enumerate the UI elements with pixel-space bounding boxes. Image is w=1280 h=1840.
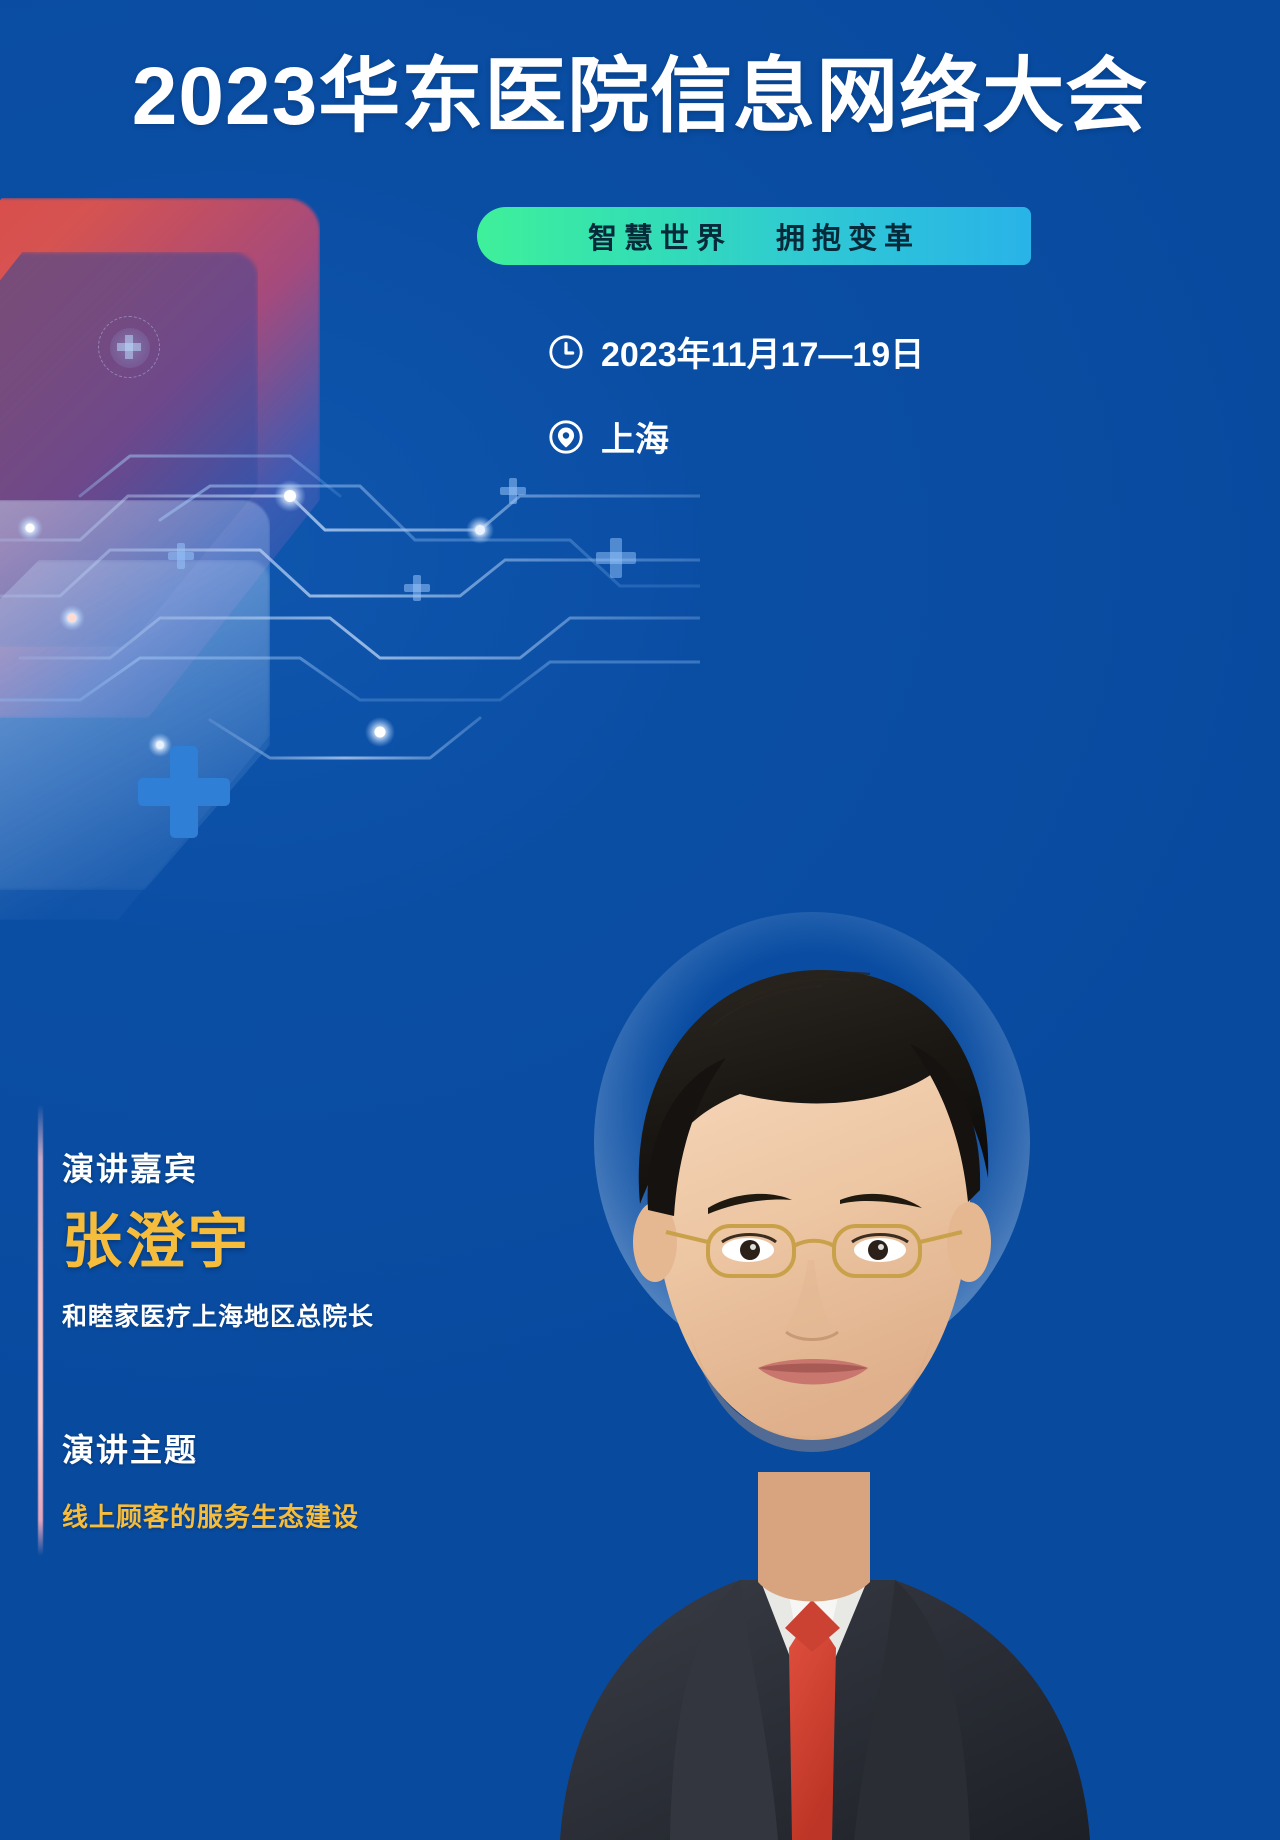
map-pin-icon: [547, 418, 585, 456]
warm-hexagon-shape: [0, 198, 320, 718]
tagline-banner: 智慧世界 拥抱变革: [477, 207, 1031, 265]
pale-hexagon-inner-shape: [0, 560, 270, 890]
plus-decoration-icon: [596, 538, 636, 578]
plus-decoration-icon: [500, 478, 526, 504]
event-location-text: 上海: [601, 412, 669, 461]
speaker-portrait: [440, 812, 1100, 1840]
poster-title: 2023华东医院信息网络大会: [0, 56, 1280, 138]
topic-label: 演讲主题: [62, 1425, 482, 1471]
speaker-label: 演讲嘉宾: [62, 1144, 482, 1190]
tagline-part-1: 智慧世界: [588, 215, 732, 257]
speaker-role: 和睦家医疗上海地区总院长: [62, 1297, 482, 1333]
plus-decoration-icon: [404, 575, 430, 601]
dashed-circle-decoration: [98, 316, 160, 378]
clock-icon: [547, 333, 585, 371]
accent-rule: [38, 1104, 43, 1556]
warm-hexagon-inner-shape: [0, 252, 258, 647]
speaker-name: 张澄宇: [62, 1210, 482, 1273]
conference-poster: 2023华东医院信息网络大会 智慧世界 拥抱变革 2023年11月17—19日 …: [0, 0, 1280, 1840]
speaker-info-block: 演讲嘉宾 张澄宇 和睦家医疗上海地区总院长 演讲主题 线上顾客的服务生态建设: [62, 1144, 482, 1534]
topic-title: 线上顾客的服务生态建设: [62, 1497, 482, 1534]
tagline-part-2: 拥抱变革: [776, 215, 920, 257]
small-plus-icon: [117, 335, 141, 359]
large-plus-icon: [138, 746, 230, 838]
pale-hexagon-shape: [0, 500, 270, 920]
event-location-line: 上海: [547, 412, 669, 461]
plus-decoration-icon: [168, 543, 194, 569]
event-date-text: 2023年11月17—19日: [601, 327, 924, 376]
event-date-line: 2023年11月17—19日: [547, 327, 924, 376]
